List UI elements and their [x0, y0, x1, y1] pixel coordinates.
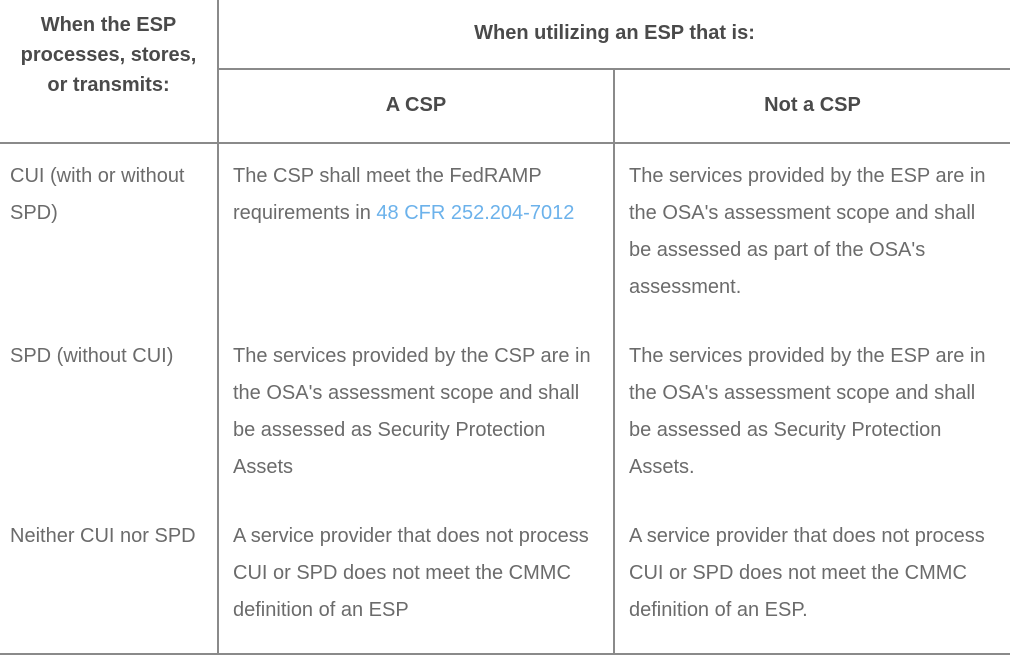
cell-spd-not-a-csp: The services provided by the ESP are in … — [614, 324, 1010, 504]
column-header-a-csp: A CSP — [218, 69, 614, 143]
esp-requirements-table-container: When the ESP processes, stores, or trans… — [0, 0, 1024, 608]
column-group-header: When utilizing an ESP that is: — [218, 0, 1010, 69]
cell-neither-a-csp: A service provider that does not process… — [218, 504, 614, 654]
cell-cui-a-csp: The CSP shall meet the FedRAMP requireme… — [218, 143, 614, 324]
row-label-neither: Neither CUI nor SPD — [0, 504, 218, 654]
row-label-cui: CUI (with or without SPD) — [0, 143, 218, 324]
table-row: CUI (with or without SPD) The CSP shall … — [0, 143, 1010, 324]
table-row: SPD (without CUI) The services provided … — [0, 324, 1010, 504]
table-body: CUI (with or without SPD) The CSP shall … — [0, 143, 1010, 654]
column-header-not-a-csp: Not a CSP — [614, 69, 1010, 143]
row-label-spd: SPD (without CUI) — [0, 324, 218, 504]
table-header: When the ESP processes, stores, or trans… — [0, 0, 1010, 143]
far-clause-link[interactable]: 48 CFR 252.204-7012 — [376, 202, 574, 224]
cell-spd-a-csp: The services provided by the CSP are in … — [218, 324, 614, 504]
cell-neither-not-a-csp: A service provider that does not process… — [614, 504, 1010, 654]
row-axis-header: When the ESP processes, stores, or trans… — [0, 0, 218, 143]
table-header-row-group: When the ESP processes, stores, or trans… — [0, 0, 1010, 69]
cell-cui-not-a-csp: The services provided by the ESP are in … — [614, 143, 1010, 324]
table-row: Neither CUI nor SPD A service provider t… — [0, 504, 1010, 654]
esp-requirements-table: When the ESP processes, stores, or trans… — [0, 0, 1010, 655]
